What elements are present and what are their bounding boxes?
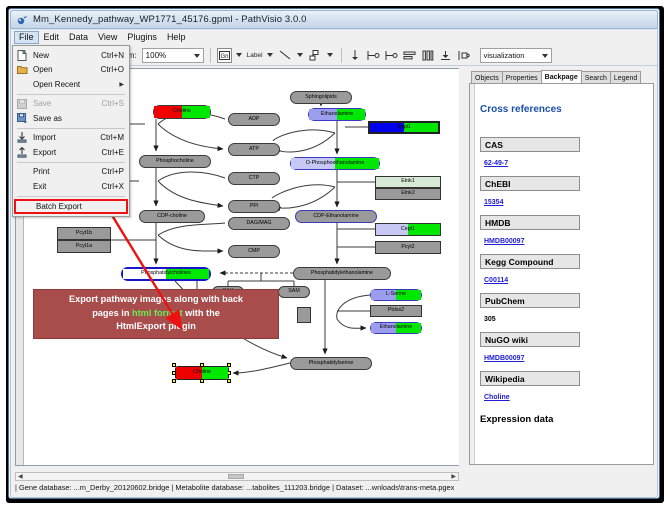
scroll-right-icon[interactable]: ▶ xyxy=(449,473,458,480)
zoom-value: 100% xyxy=(146,51,166,60)
align-top-button[interactable] xyxy=(348,48,363,63)
chevron-down-icon[interactable] xyxy=(194,54,200,58)
title-bar: Mm_Kennedy_pathway_WP1771_45176.gpml - P… xyxy=(10,10,658,29)
menu-help[interactable]: Help xyxy=(162,31,191,44)
visualization-chevron-down-icon[interactable] xyxy=(542,54,548,58)
file-menu-accel-open: Ctrl+O xyxy=(101,65,129,74)
menu-bar[interactable]: File Edit Data View Plugins Help xyxy=(10,30,658,45)
shape-tool-button[interactable] xyxy=(308,48,323,63)
pathway-node-sam[interactable]: SAM xyxy=(278,286,310,298)
pathway-node-o-phosphoethanolamine[interactable]: O-Phosphoethanolamine xyxy=(290,157,380,170)
node-label: Ptdss2 xyxy=(388,308,404,313)
pathway-node-grey-block[interactable] xyxy=(297,307,311,323)
file-menu-dropdown[interactable]: New Ctrl+N Open Ctrl+O Open Recent ▶ Sav… xyxy=(12,45,130,217)
menu-file[interactable]: File xyxy=(14,31,39,44)
file-menu-item-save[interactable]: Save Ctrl+S xyxy=(13,97,129,112)
file-menu-label-save-as: Save as xyxy=(29,114,124,123)
file-menu-accel-print: Ctrl+P xyxy=(102,167,129,176)
file-menu-item-export[interactable]: Export Ctrl+E xyxy=(13,145,129,160)
pathway-node-ptdss2[interactable]: Ptdss2 xyxy=(370,305,422,317)
node-label: CDP-Ethanolamine xyxy=(313,214,358,219)
xref-header-kegg-compound: Kegg Compound xyxy=(480,254,580,269)
label-tool-button[interactable]: Label xyxy=(247,52,263,59)
pathway-node-phosphocholine[interactable]: Phosphocholine xyxy=(139,155,211,168)
pathway-node-atp[interactable]: ATP xyxy=(228,143,280,156)
node-label: ADP xyxy=(249,117,260,122)
expression-data-title: Expression data xyxy=(480,414,649,425)
xref-value-cas[interactable]: 62-49-7 xyxy=(484,160,508,167)
node-label: Sphingolipids xyxy=(305,95,337,100)
node-label: Phosphocholine xyxy=(156,159,194,164)
file-menu-label-save: Save xyxy=(29,99,102,108)
file-menu-item-batch-export[interactable]: Batch Export xyxy=(14,199,128,214)
node-label: ATP xyxy=(249,147,259,152)
cross-references-section: Cross references CAS 62-49-7 ChEBI 15354… xyxy=(480,90,649,425)
export-icon xyxy=(15,146,29,158)
pathvisio-app-icon xyxy=(16,14,28,26)
svg-text:Gn: Gn xyxy=(220,54,228,60)
distribute-vertical-button[interactable] xyxy=(420,48,435,63)
exit-icon xyxy=(15,180,29,192)
file-menu-item-save-as[interactable]: Save as xyxy=(13,111,129,126)
pathway-node-cmp[interactable]: CMP xyxy=(228,245,280,258)
canvas-horizontal-scrollbar[interactable]: ◀ ▶ xyxy=(15,472,459,481)
pathway-node-ethanolamine-1[interactable]: Ethanolamine xyxy=(308,108,366,121)
xref-header-wikipedia: Wikipedia xyxy=(480,371,580,386)
xref-value-pubchem: 305 xyxy=(484,316,496,323)
zoom-combobox[interactable]: 100% xyxy=(142,48,204,63)
file-menu-accel-export: Ctrl+E xyxy=(102,148,129,157)
backpage-content: Cross references CAS 62-49-7 ChEBI 15354… xyxy=(469,83,654,465)
pathway-node-ppi[interactable]: PPi xyxy=(228,200,280,213)
node-label: Sgpl1 xyxy=(397,125,411,130)
file-menu-item-print[interactable]: Print Ctrl+P xyxy=(13,165,129,180)
node-label: SAM xyxy=(288,289,299,294)
node-label: O-Phosphoethanolamine xyxy=(306,161,365,166)
shape-dropdown-icon[interactable] xyxy=(327,53,333,57)
file-menu-item-open-recent[interactable]: Open Recent ▶ xyxy=(13,77,129,92)
pathway-node-etnk1[interactable]: Etnk1 xyxy=(375,176,441,188)
window-title: Mm_Kennedy_pathway_WP1771_45176.gpml - P… xyxy=(33,14,307,25)
xref-value-nugo-wiki[interactable]: HMDB00097 xyxy=(484,355,524,362)
xref-value-chebi[interactable]: 15354 xyxy=(484,199,503,206)
xref-header-pubchem: PubChem xyxy=(480,293,580,308)
node-label: Phosphatidylserine xyxy=(309,361,354,366)
xref-value-kegg-compound[interactable]: C00114 xyxy=(484,277,508,284)
group-button[interactable] xyxy=(456,48,471,63)
distribute-horizontal-button[interactable] xyxy=(402,48,417,63)
pathway-node-adp[interactable]: ADP xyxy=(228,113,280,126)
selection-handle-se[interactable] xyxy=(227,379,231,383)
file-menu-label-new: New xyxy=(29,51,101,60)
geneproduct-dropdown-icon[interactable] xyxy=(236,53,242,57)
file-menu-accel-new: Ctrl+N xyxy=(101,51,129,60)
pathway-node-pcyt2[interactable]: Pcyt2 xyxy=(375,241,441,254)
visualization-combobox[interactable]: visualization xyxy=(480,48,552,63)
status-bar-text: | Gene database: ...m_Derby_20120602.bri… xyxy=(15,483,655,492)
file-menu-label-batch-export: Batch Export xyxy=(32,202,126,211)
file-menu-label-open-recent: Open Recent xyxy=(29,80,119,89)
menu-plugins[interactable]: Plugins xyxy=(122,31,162,44)
node-label: Etnk1 xyxy=(401,179,415,184)
xref-header-chebi: ChEBI xyxy=(480,176,580,191)
file-menu-separator-3 xyxy=(17,162,125,163)
geneproduct-tool-button[interactable]: Gn xyxy=(217,48,232,63)
file-menu-label-exit: Exit xyxy=(29,182,102,191)
selection-handle-s[interactable] xyxy=(200,379,204,383)
pathway-node-sphingolipids[interactable]: Sphingolipids xyxy=(290,91,352,104)
side-panel-tabs[interactable]: Objects Properties Backpage Search Legen… xyxy=(471,70,655,84)
file-menu-label-import: Import xyxy=(29,133,100,142)
pathway-node-cept1[interactable]: Cept1 xyxy=(375,223,441,236)
file-menu-label-export: Export xyxy=(29,148,102,157)
file-menu-accel-import: Ctrl+M xyxy=(100,133,129,142)
batch-export-icon xyxy=(18,200,32,212)
node-label: CTP xyxy=(249,176,260,181)
file-menu-accel-save: Ctrl+S xyxy=(102,99,129,108)
stack-center-button[interactable] xyxy=(438,48,453,63)
open-folder-icon xyxy=(15,64,29,76)
pathway-node-etnk2[interactable]: Etnk2 xyxy=(375,188,441,200)
menu-view[interactable]: View xyxy=(93,31,122,44)
scrollbar-thumb[interactable] xyxy=(228,474,244,479)
pathway-node-ethanolamine-2[interactable]: Ethanolamine xyxy=(370,322,422,334)
label-dropdown-icon[interactable] xyxy=(267,53,273,57)
align-middle-button[interactable] xyxy=(384,48,399,63)
file-menu-item-import[interactable]: Import Ctrl+M xyxy=(13,131,129,146)
file-menu-item-exit[interactable]: Exit Ctrl+X xyxy=(13,179,129,194)
node-label: Ethanolamine xyxy=(380,325,412,330)
submenu-chevron-right-icon[interactable]: ▶ xyxy=(119,81,129,88)
import-icon xyxy=(15,132,29,144)
selection-handle-sw[interactable] xyxy=(172,379,176,383)
node-label: Pcyt2 xyxy=(401,245,414,250)
file-menu-separator-4 xyxy=(17,196,125,197)
xref-value-hmdb[interactable]: HMDB00097 xyxy=(484,238,524,245)
pathway-node-cdp-ethanolamine[interactable]: CDP-Ethanolamine xyxy=(295,210,377,223)
node-label: CMP xyxy=(248,249,260,254)
open-recent-icon xyxy=(15,78,29,90)
visualization-value: visualization xyxy=(484,51,525,60)
file-menu-label-print: Print xyxy=(29,167,102,176)
file-menu-item-new[interactable]: New Ctrl+N xyxy=(13,48,129,63)
file-menu-item-open[interactable]: Open Ctrl+O xyxy=(13,63,129,78)
pathway-node-sgpl1[interactable]: Sgpl1 xyxy=(368,121,440,134)
menu-data[interactable]: Data xyxy=(64,31,93,44)
tab-backpage[interactable]: Backpage xyxy=(541,70,582,84)
toolbar-separator-2 xyxy=(341,48,342,63)
pathway-node-phosphatidylethanolamine[interactable]: Phosphatidylethanolamine xyxy=(293,267,391,280)
toolbar-separator xyxy=(210,48,211,63)
node-label: Etnk2 xyxy=(401,191,415,196)
cross-references-title: Cross references xyxy=(480,104,649,115)
line-dropdown-icon[interactable] xyxy=(297,53,303,57)
node-label: Cept1 xyxy=(401,227,415,232)
side-panel[interactable]: Objects Properties Backpage Search Legen… xyxy=(463,68,655,466)
pathway-node-phosphatidylserine[interactable]: Phosphatidylserine xyxy=(290,357,372,370)
pathway-node-dag-mag[interactable]: DAG/MAG xyxy=(228,217,290,230)
file-menu-accel-exit: Ctrl+X xyxy=(102,182,129,191)
save-disk-icon xyxy=(15,98,29,110)
node-label: DAG/MAG xyxy=(246,221,271,226)
pathway-node-choline[interactable]: Choline xyxy=(153,105,211,119)
backpage-left-gutter xyxy=(470,84,475,464)
node-label: Phosphatidylethanolamine xyxy=(311,271,373,276)
save-as-icon xyxy=(15,112,29,124)
new-file-icon xyxy=(15,49,29,61)
status-bar: ◀ ▶ | Gene database: ...m_Derby_20120602… xyxy=(10,470,658,498)
file-menu-separator-1 xyxy=(17,94,125,95)
file-menu-label-open: Open xyxy=(29,65,101,74)
scroll-left-icon[interactable]: ◀ xyxy=(16,473,25,480)
xref-header-cas: CAS xyxy=(480,137,580,152)
xref-value-wikipedia[interactable]: Choline xyxy=(484,394,510,401)
node-label: Choline xyxy=(173,109,191,114)
pathway-node-l-serine[interactable]: L-Serine xyxy=(370,289,422,301)
xref-header-hmdb: HMDB xyxy=(480,215,580,230)
file-menu-separator-2 xyxy=(17,128,125,129)
print-icon xyxy=(15,166,29,178)
menu-edit[interactable]: Edit xyxy=(39,31,65,44)
pathway-node-ctp[interactable]: CTP xyxy=(228,172,280,185)
node-label: PPi xyxy=(250,204,258,209)
node-label: L-Serine xyxy=(386,292,406,297)
app-screenshot: Mm_Kennedy_pathway_WP1771_45176.gpml - P… xyxy=(0,0,670,509)
align-left-button[interactable] xyxy=(366,48,381,63)
line-tool-button[interactable] xyxy=(278,48,293,63)
node-label: Ethanolamine xyxy=(321,112,353,117)
xref-header-nugo-wiki: NuGO wiki xyxy=(480,332,580,347)
